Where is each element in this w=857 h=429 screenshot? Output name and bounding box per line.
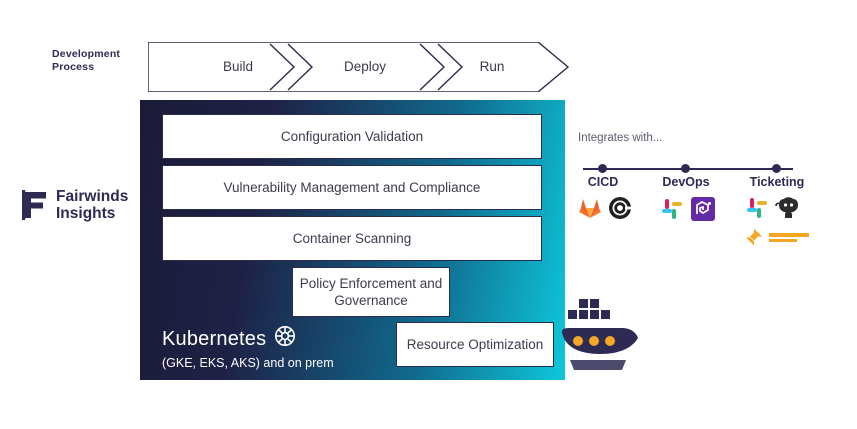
capability-resource-optimization[interactable]: Resource Optimization [396,322,554,367]
integrations-heading: Integrates with... [578,132,662,144]
capability-container-scanning[interactable]: Container Scanning [162,216,542,261]
capability-label: Resource Optimization [407,336,544,353]
kubernetes-helm-wheel-icon [274,325,296,353]
development-process-label-line1: Development [52,48,144,61]
kubernetes-foundation-subtitle: (GKE, EKS, AKS) and on prem [162,356,334,371]
brand-name-line1: Fairwinds [56,188,128,205]
stage-deploy[interactable]: Deploy [320,59,410,74]
integration-icons-devops [660,196,716,227]
integrations-dot-cicd [598,164,607,173]
capability-label: Vulnerability Management and Compliance [224,179,481,196]
capability-vulnerability-management[interactable]: Vulnerability Management and Compliance [162,165,542,210]
integration-group-title-ticketing: Ticketing [740,175,814,189]
gitlab-fox-icon[interactable] [578,196,602,225]
kubernetes-foundation-title: Kubernetes [162,327,266,351]
diagram-canvas: Development Process Build Deploy Run Fai… [0,0,857,429]
integration-icons-cicd [578,196,632,225]
datadog-dog-icon[interactable] [690,196,716,227]
capability-label: Configuration Validation [281,128,423,145]
brand-name-line2: Insights [56,205,128,222]
slack-icon[interactable] [745,196,769,225]
slack-icon[interactable] [660,197,684,226]
fairwinds-insights-logo: Fairwinds Insights [22,188,128,222]
kubernetes-foundation: Kubernetes [162,325,334,371]
fairwinds-insights-wordmark: Fairwinds Insights [56,188,128,222]
capability-configuration-validation[interactable]: Configuration Validation [162,114,542,159]
circleci-icon[interactable] [608,196,632,225]
jira-wordmark-icon [769,229,811,250]
stage-build[interactable]: Build [193,59,283,74]
github-octocat-icon[interactable] [775,196,801,225]
fairwinds-insights-platform-panel: Configuration Validation Vulnerability M… [140,100,565,380]
kubernetes-foundation-title-row: Kubernetes [162,325,334,353]
capability-policy-enforcement[interactable]: Policy Enforcement and Governance [292,267,450,317]
integration-group-title-cicd: CICD [573,175,633,189]
fairwinds-f-mark-icon [22,190,48,220]
integration-group-title-devops: DevOps [655,175,717,189]
development-process-label-line2: Process [52,61,144,74]
capability-label: Container Scanning [293,230,412,247]
docker-kubernetes-whale-icon [560,298,640,380]
integrations-dot-devops [681,164,690,173]
integration-icons-ticketing [745,196,801,225]
integration-icons-ticketing-secondary [745,228,811,251]
development-process-label: Development Process [52,48,144,74]
stage-run[interactable]: Run [447,59,537,74]
jira-icon[interactable] [745,228,763,251]
capability-label: Policy Enforcement and Governance [293,275,449,309]
integrations-dot-ticketing [772,164,781,173]
